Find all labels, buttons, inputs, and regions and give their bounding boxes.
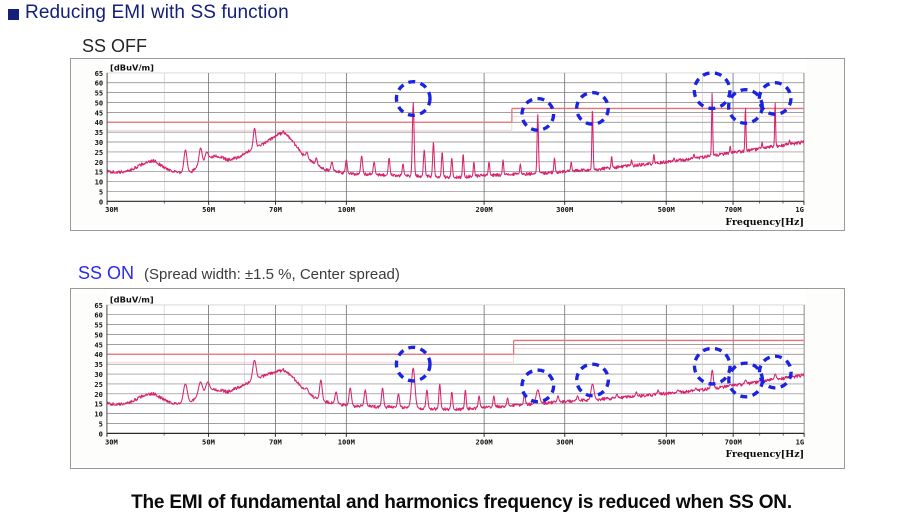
svg-text:50: 50 [95, 98, 104, 107]
svg-text:100M: 100M [338, 205, 355, 214]
svg-text:1G: 1G [795, 205, 804, 214]
spectrum-chart-ss-on: 05101520253035404550556065[dBuV/m]30M50M… [71, 289, 844, 468]
svg-text:25: 25 [94, 380, 103, 389]
svg-text:35: 35 [95, 128, 104, 137]
svg-text:30: 30 [94, 370, 103, 379]
svg-text:700M: 700M [725, 205, 742, 214]
svg-text:200M: 200M [476, 205, 493, 214]
svg-text:50M: 50M [202, 205, 215, 214]
svg-text:30M: 30M [105, 205, 118, 214]
svg-text:Frequency[Hz]: Frequency[Hz] [725, 449, 804, 460]
section-heading-ss-on-label: SS ON [78, 263, 134, 284]
svg-text:20: 20 [95, 158, 104, 167]
svg-text:200M: 200M [476, 437, 493, 446]
chart-panel-ss-on: 05101520253035404550556065[dBuV/m]30M50M… [70, 288, 845, 469]
svg-text:40: 40 [95, 118, 104, 127]
svg-text:45: 45 [94, 340, 103, 349]
svg-text:55: 55 [95, 89, 104, 98]
svg-text:300M: 300M [556, 205, 573, 214]
svg-text:30M: 30M [105, 437, 118, 446]
svg-text:5: 5 [99, 419, 103, 428]
svg-text:50: 50 [94, 330, 103, 339]
svg-text:500M: 500M [658, 205, 675, 214]
svg-text:25: 25 [95, 148, 104, 157]
svg-text:10: 10 [95, 178, 104, 187]
svg-text:65: 65 [94, 301, 103, 310]
spectrum-chart-ss-off: 05101520253035404550556065[dBuV/m]30M50M… [71, 59, 844, 230]
svg-text:70M: 70M [269, 437, 282, 446]
page-title: Reducing EMI with SS function [8, 2, 289, 24]
svg-text:65: 65 [95, 69, 104, 78]
svg-text:1G: 1G [796, 437, 805, 446]
svg-text:[dBuV/m]: [dBuV/m] [110, 62, 154, 72]
svg-text:700M: 700M [725, 437, 742, 446]
section-heading-ss-on-note: (Spread width: ±1.5 %, Center spread) [144, 266, 400, 283]
svg-text:35: 35 [94, 360, 103, 369]
svg-text:0: 0 [99, 429, 103, 438]
bullet-square-icon [8, 9, 19, 20]
svg-text:20: 20 [94, 390, 103, 399]
svg-text:15: 15 [95, 168, 104, 177]
svg-text:5: 5 [99, 187, 103, 196]
page-title-text: Reducing EMI with SS function [25, 2, 289, 24]
svg-text:100M: 100M [338, 437, 355, 446]
svg-text:45: 45 [95, 108, 104, 117]
svg-text:[dBuV/m]: [dBuV/m] [110, 294, 154, 304]
svg-text:300M: 300M [556, 437, 573, 446]
svg-text:60: 60 [95, 79, 104, 88]
svg-text:10: 10 [94, 410, 103, 419]
svg-text:70M: 70M [269, 205, 282, 214]
section-heading-ss-on: SS ON (Spread width: ±1.5 %, Center spre… [78, 263, 400, 284]
svg-text:15: 15 [94, 400, 103, 409]
svg-text:Frequency[Hz]: Frequency[Hz] [725, 217, 804, 228]
svg-text:60: 60 [94, 311, 103, 320]
section-heading-ss-off: SS OFF [82, 36, 147, 57]
svg-text:0: 0 [99, 197, 103, 206]
svg-text:40: 40 [94, 350, 103, 359]
svg-text:55: 55 [94, 321, 103, 330]
svg-text:30: 30 [95, 138, 104, 147]
summary-caption: The EMI of fundamental and harmonics fre… [0, 492, 923, 514]
svg-text:50M: 50M [202, 437, 215, 446]
svg-text:500M: 500M [658, 437, 675, 446]
chart-panel-ss-off: 05101520253035404550556065[dBuV/m]30M50M… [70, 58, 845, 231]
